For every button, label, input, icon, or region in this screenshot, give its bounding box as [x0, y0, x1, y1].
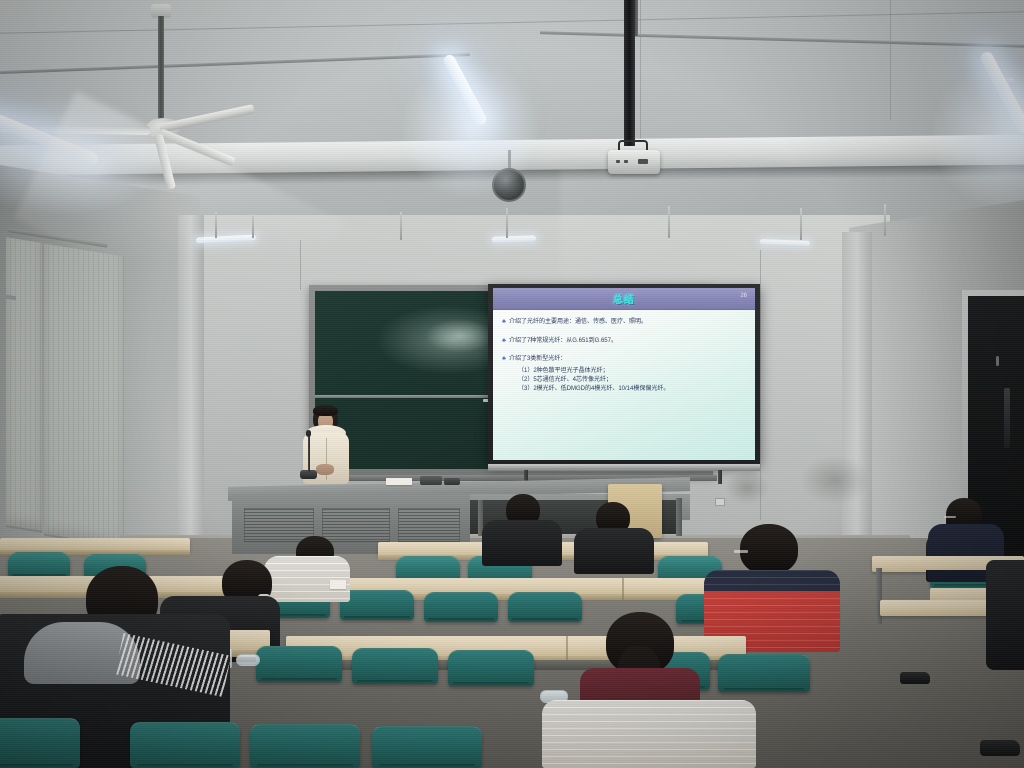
- slide-bullet-2: ♣ 介绍了7种常规光纤：从G.651到G.657。: [502, 338, 748, 346]
- door-window: [1004, 388, 1010, 448]
- microphone-head: [306, 430, 311, 437]
- window-blind: [6, 237, 42, 533]
- console-vent: [398, 508, 460, 542]
- slide-bullet-3: ♣ 介绍了3类新型光纤：: [502, 356, 748, 364]
- slide-bullet-text: 介绍了7种常规光纤：从G.651到G.657。: [509, 338, 617, 346]
- wall-pillar-left: [178, 215, 204, 545]
- projector-bracket: [618, 140, 648, 150]
- bullet-marker-icon: ♣: [502, 356, 506, 363]
- glasses: [944, 516, 956, 518]
- slide-bullet-text: 介绍了3类新型光纤：: [509, 356, 566, 364]
- chair[interactable]: [448, 650, 534, 686]
- student-head: [740, 524, 798, 574]
- wall-fan: [492, 168, 526, 202]
- chair[interactable]: [250, 724, 360, 768]
- slide-bullet-1: ♣ 介绍了光纤的主要用途：通信、传感、医疗、照明。: [502, 319, 748, 327]
- chair[interactable]: [0, 718, 80, 768]
- chair[interactable]: [352, 648, 438, 684]
- slide-title: 总结: [613, 291, 635, 306]
- slide-sublist: （1）2种色散平坦光子晶体光纤； （2）5芯通信光纤、4芯传像光纤； （3）2模…: [518, 367, 748, 394]
- slide-subitem: （2）5芯通信光纤、4芯传像光纤；: [518, 376, 748, 385]
- wall-stain: [800, 455, 870, 505]
- chair[interactable]: [256, 646, 342, 682]
- student-shoe: [980, 740, 1020, 756]
- projection-screen: 总结 26 ♣ 介绍了光纤的主要用途：通信、传感、医疗、照明。 ♣ 介绍了7种常…: [488, 284, 760, 464]
- wall-pillar-right: [842, 232, 872, 562]
- slide-bullet-text: 介绍了光纤的主要用途：通信、传感、医疗、照明。: [509, 319, 647, 327]
- projector-pole: [624, 0, 635, 146]
- ceiling-projector: [608, 150, 660, 174]
- chair[interactable]: [340, 590, 414, 620]
- slide-header: 总结 26: [493, 288, 755, 310]
- microphone-stand: [308, 436, 310, 472]
- chair[interactable]: [372, 726, 482, 768]
- classroom-photo: 总结 26 ♣ 介绍了光纤的主要用途：通信、传感、医疗、照明。 ♣ 介绍了7种常…: [0, 0, 1024, 768]
- desk-paper: [386, 478, 412, 485]
- student-shoe: [900, 672, 930, 684]
- wall-socket: [715, 498, 725, 506]
- slide-subitem: （1）2种色散平坦光子晶体光纤；: [518, 367, 748, 376]
- bullet-marker-icon: ♣: [502, 319, 506, 326]
- fan-rod: [158, 16, 164, 124]
- slide-content: 总结 26 ♣ 介绍了光纤的主要用途：通信、传感、医疗、照明。 ♣ 介绍了7种常…: [493, 288, 755, 460]
- chair[interactable]: [718, 654, 810, 692]
- slide-subitem: （3）2模光纤、低DMGD的4模光纤、10/14模保偏光纤。: [518, 385, 748, 394]
- console-vent: [322, 508, 390, 542]
- slide-body: ♣ 介绍了光纤的主要用途：通信、传感、医疗、照明。 ♣ 介绍了7种常规光纤：从G…: [493, 310, 755, 460]
- glasses: [734, 550, 748, 553]
- desk-equipment: [444, 478, 460, 485]
- student-torso: [482, 520, 562, 566]
- chair[interactable]: [508, 592, 582, 622]
- water-bottle: [236, 654, 260, 666]
- chair[interactable]: [8, 552, 70, 578]
- console-vent: [244, 508, 314, 542]
- chair[interactable]: [130, 722, 240, 768]
- student-torso: [542, 700, 756, 768]
- presenter-hair: [313, 405, 338, 416]
- student-torso: [574, 528, 654, 574]
- presenter-hands: [316, 464, 334, 475]
- slide-page-number: 26: [740, 293, 747, 299]
- student-torso: [986, 560, 1024, 670]
- window-blind: [44, 244, 124, 549]
- chair[interactable]: [424, 592, 498, 622]
- door-handle[interactable]: [996, 356, 999, 366]
- student-torso: [264, 556, 350, 602]
- wall-stain: [725, 470, 770, 505]
- student-paper: [330, 580, 346, 589]
- bullet-marker-icon: ♣: [502, 338, 506, 345]
- desk-equipment: [420, 476, 442, 485]
